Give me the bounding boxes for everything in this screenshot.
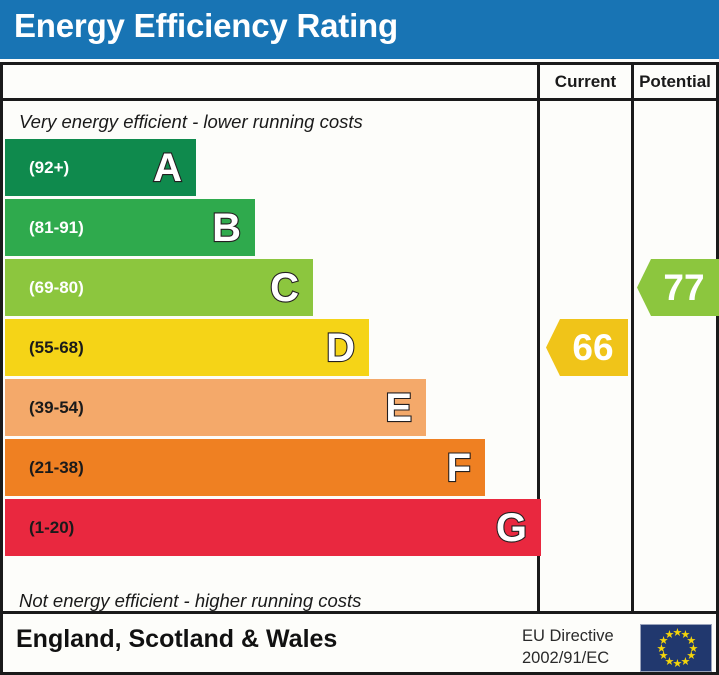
potential-rating-value: 77 bbox=[651, 269, 704, 306]
rating-band-b: (81-91)B bbox=[5, 199, 255, 256]
rating-band-c: (69-80)C bbox=[5, 259, 313, 316]
chart-footer: England, Scotland & Wales EU Directive 2… bbox=[0, 614, 719, 675]
rating-table: Current Potential Very energy efficient … bbox=[0, 62, 719, 614]
band-range-a: (92+) bbox=[29, 158, 69, 178]
rating-band-g: (1-20)G bbox=[5, 499, 541, 556]
caption-bottom: Not energy efficient - higher running co… bbox=[19, 590, 361, 612]
caption-top: Very energy efficient - lower running co… bbox=[19, 111, 363, 133]
band-range-b: (81-91) bbox=[29, 218, 84, 238]
rating-band-d: (55-68)D bbox=[5, 319, 369, 376]
band-range-d: (55-68) bbox=[29, 338, 84, 358]
footer-directive-label: EU Directive 2002/91/EC bbox=[522, 625, 614, 670]
star-icon: ★ bbox=[665, 631, 674, 640]
page-title: Energy Efficiency Rating bbox=[14, 7, 398, 45]
band-range-f: (21-38) bbox=[29, 458, 84, 478]
band-letter-b: B bbox=[212, 208, 241, 248]
directive-line-2: 2002/91/EC bbox=[522, 647, 614, 669]
rating-band-a: (92+)A bbox=[5, 139, 196, 196]
column-header-current: Current bbox=[537, 65, 631, 98]
rating-band-e: (39-54)E bbox=[5, 379, 426, 436]
band-letter-a: A bbox=[153, 148, 182, 188]
column-divider-potential bbox=[631, 101, 634, 611]
band-letter-c: C bbox=[270, 268, 299, 308]
potential-rating-marker: 77 bbox=[637, 259, 719, 316]
band-range-g: (1-20) bbox=[29, 518, 74, 538]
energy-efficiency-rating-chart: Energy Efficiency Rating Current Potenti… bbox=[0, 0, 719, 675]
current-rating-marker: 66 bbox=[546, 319, 628, 376]
eu-flag-icon: ★★★★★★★★★★★★ bbox=[640, 624, 712, 672]
chart-title-bar: Energy Efficiency Rating bbox=[0, 0, 719, 59]
band-letter-d: D bbox=[326, 328, 355, 368]
band-letter-e: E bbox=[385, 388, 412, 428]
column-header-potential: Potential bbox=[631, 65, 716, 98]
footer-region-label: England, Scotland & Wales bbox=[16, 625, 337, 654]
band-letter-g: G bbox=[496, 508, 527, 548]
table-header-row: Current Potential bbox=[3, 65, 716, 101]
band-letter-f: F bbox=[447, 448, 471, 488]
band-range-c: (69-80) bbox=[29, 278, 84, 298]
rating-band-f: (21-38)F bbox=[5, 439, 485, 496]
band-range-e: (39-54) bbox=[29, 398, 84, 418]
current-rating-value: 66 bbox=[560, 329, 613, 366]
directive-line-1: EU Directive bbox=[522, 625, 614, 647]
